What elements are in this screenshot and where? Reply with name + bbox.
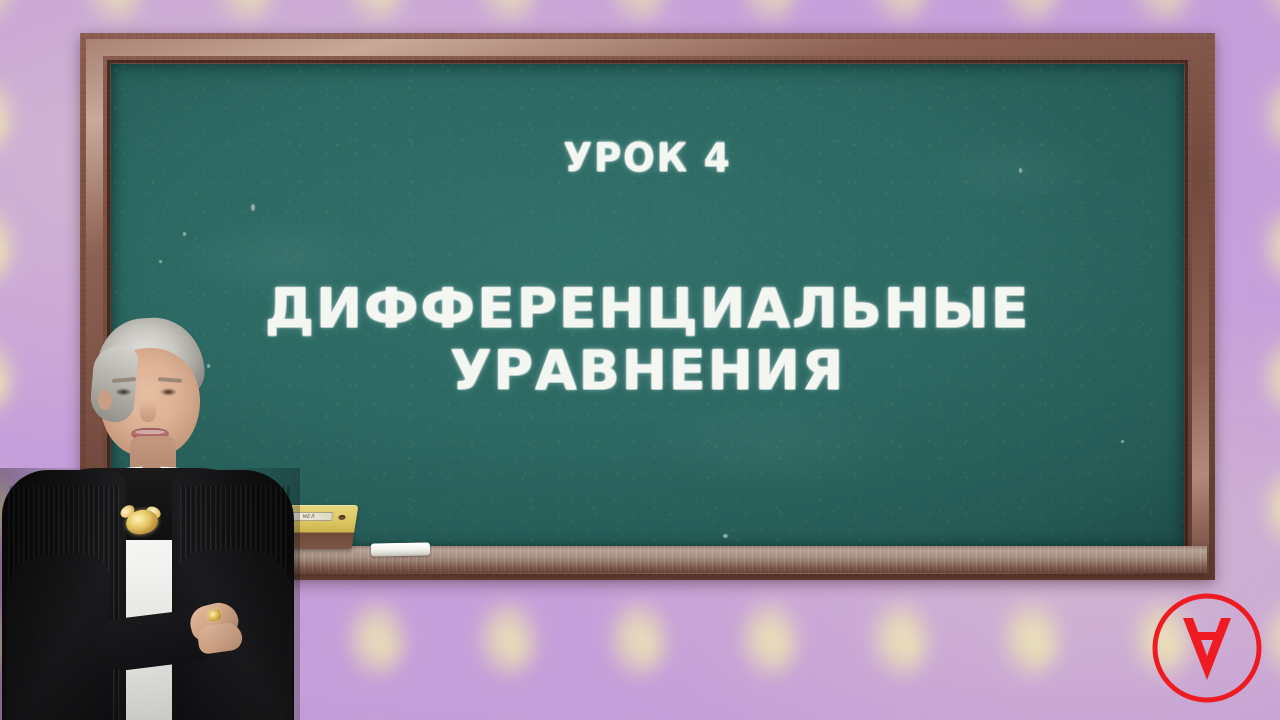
chalk-stick[interactable] [371, 542, 430, 556]
presenter-figure: Преподаватель у доски [0, 318, 300, 720]
presenter-alt-text: Преподаватель у доски [0, 318, 1, 319]
slide-stage: УРОК 4 ДИФФЕРЕНЦИАЛЬНЫЕ УРАВНЕНИЯ МЕЛ Пр… [0, 0, 1280, 720]
eraser-hole [338, 515, 346, 520]
presenter-eye [160, 388, 177, 396]
presenter-eye [115, 388, 132, 396]
chalk-fleck [1121, 440, 1124, 443]
lesson-number-label: УРОК 4 [111, 135, 1184, 181]
chalk-fleck [183, 232, 186, 236]
presenter-nose [140, 400, 156, 422]
presenter-hair-side [89, 344, 139, 424]
presenter-teeth [135, 430, 165, 434]
presenter-ear [98, 390, 112, 410]
presenter-arm-left [6, 554, 110, 720]
chalk-fleck [723, 534, 728, 538]
chalk-fleck [251, 204, 255, 211]
chalk-fleck [159, 260, 162, 263]
channel-logo[interactable] [1151, 592, 1263, 704]
logo-inverted-a-icon [1183, 618, 1231, 680]
logo-circle-icon [1155, 596, 1259, 700]
